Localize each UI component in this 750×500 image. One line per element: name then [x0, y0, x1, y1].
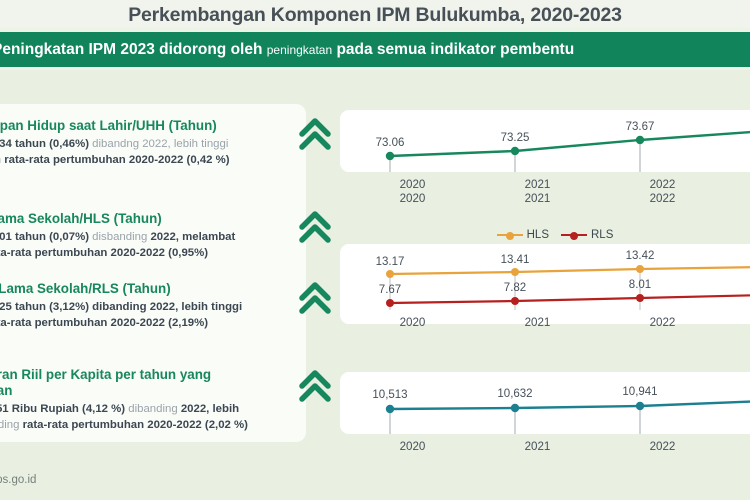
headline-banner-text: Peningkatan IPM 2023 didorong oleh penin…	[0, 41, 574, 59]
headline-emphasis: peningkatan	[267, 43, 332, 57]
data-point-rls-2020	[386, 299, 394, 307]
pengeluaran-compare: dibanding	[125, 403, 181, 415]
hls-compare-year: 2022, melambat	[150, 231, 235, 243]
page-title: Perkembangan Komponen IPM Bulukumba, 202…	[0, 0, 750, 30]
series-line-pengeluaran	[390, 401, 750, 409]
data-point-pengeluaran-2020	[386, 405, 394, 413]
indicator-block-pengeluaran: eluaran Riil per Kapita per tahun yang u…	[0, 367, 306, 433]
double-chevron-up-icon	[298, 366, 332, 406]
series-line-rls	[390, 295, 750, 303]
pengeluaran-line2-lead: dibanding	[0, 419, 23, 431]
double-chevron-up-icon	[298, 207, 332, 247]
value-label-hls-2020: 13.17	[376, 256, 405, 268]
pengeluaran-title-line1: eluaran Riil per Kapita per tahun yang	[0, 367, 306, 383]
x-tick-2020: 2020	[350, 316, 475, 329]
pengeluaran-compare-year: 2022, lebih	[181, 403, 239, 415]
data-point-pengeluaran-2022	[636, 402, 644, 410]
indicator-body-uhh: kat 0,34 tahun (0,46%) dibandng 2022, le…	[0, 137, 306, 168]
x-tick-dup-2021: 2021	[475, 192, 600, 205]
value-label-pengeluaran-2020: 10,513	[372, 389, 407, 401]
indicator-body-rls: kat 0,25 tahun (3,12%) dibanding 2022, l…	[0, 300, 306, 331]
data-point-hls-2022	[636, 265, 644, 273]
x-tick-2021: 2021	[475, 440, 600, 453]
double-chevron-up-icon	[298, 278, 332, 318]
hls-avg-growth: rata-rata pertumbuhan 2020-2022 (0,95%)	[0, 247, 208, 259]
value-label-uhh-2020: 73.06	[376, 137, 405, 149]
x-axis-pengeluaran: 2020 2021 2022	[340, 440, 750, 453]
rls-delta: kat 0,25 tahun (3,12%) dibanding 2022, l…	[0, 301, 242, 313]
uhh-delta: kat 0,34 tahun (0,46%)	[0, 138, 89, 150]
uhh-avg-growth: rata-rata pertumbuhan 2020-2022 (0,42 %)	[4, 154, 229, 166]
data-point-hls-2021	[511, 268, 519, 276]
x-axis-uhh-duplicate: 2020 2021 2022	[340, 192, 750, 205]
pengeluaran-title-line2: uaikan	[0, 383, 306, 399]
hls-compare: disbanding	[89, 231, 150, 243]
data-point-rls-2021	[511, 297, 519, 305]
double-chevron-up-icon	[298, 114, 332, 154]
data-point-pengeluaran-2021	[511, 404, 519, 412]
x-tick-dup-2020: 2020	[350, 192, 475, 205]
uhh-compare: dibandng 2022, lebih tinggi	[89, 138, 228, 150]
indicator-block-hls: an Lama Sekolah/HLS (Tahun) kat 0,01 tah…	[0, 211, 306, 261]
indicator-title-pengeluaran: eluaran Riil per Kapita per tahun yang u…	[0, 367, 306, 399]
headline-part1: Peningkatan IPM 2023 didorong oleh	[0, 41, 267, 58]
chart-hls-rls: 13.17 13.41 13.42 7.67 7.82 8.01 2020 20…	[340, 228, 750, 338]
value-label-uhh-2022: 73.67	[626, 121, 655, 133]
chart-pengeluaran: 10,513 10,632 10,941 2020 2021 2022	[340, 372, 750, 467]
value-label-hls-2021: 13.41	[501, 254, 530, 266]
data-point-uhh-2022	[636, 136, 644, 144]
data-point-uhh-2021	[511, 147, 519, 155]
hls-delta: kat 0,01 tahun (0,07%)	[0, 231, 89, 243]
value-label-pengeluaran-2022: 10,941	[622, 386, 657, 398]
value-label-rls-2021: 7.82	[504, 282, 526, 294]
rls-avg-growth: rata-rata pertumbuhan 2020-2022 (2,19%)	[0, 317, 208, 329]
indicator-block-rls: rata Lama Sekolah/RLS (Tahun) kat 0,25 t…	[0, 281, 306, 331]
x-tick-2022: 2022	[600, 178, 725, 191]
pengeluaran-delta: kat 451 Ribu Rupiah (4,12 %)	[0, 403, 125, 415]
chart-uhh: 73.06 73.25 73.67 2020 2021 2022 2020 20…	[340, 110, 750, 215]
x-axis-uhh: 2020 2021 2022	[340, 178, 750, 191]
value-label-rls-2020: 7.67	[379, 284, 401, 296]
value-label-pengeluaran-2021: 10,632	[497, 388, 532, 400]
headline-part2: pada semua indikator pembentu	[332, 41, 574, 58]
indicator-block-uhh: Harapan Hidup saat Lahir/UHH (Tahun) kat…	[0, 118, 306, 168]
series-line-hls	[390, 267, 750, 274]
x-tick-2020: 2020	[350, 440, 475, 453]
data-point-uhh-2020	[386, 152, 394, 160]
pengeluaran-avg-growth: rata-rata pertumbuhan 2020-2022 (2,02 %)	[23, 419, 248, 431]
data-point-rls-2022	[636, 294, 644, 302]
indicator-title-rls: rata Lama Sekolah/RLS (Tahun)	[0, 281, 306, 297]
x-axis-hls-rls: 2020 2021 2022	[340, 316, 750, 329]
headline-banner: Peningkatan IPM 2023 didorong oleh penin…	[0, 32, 750, 67]
value-label-uhh-2021: 73.25	[501, 132, 530, 144]
indicator-title-hls: an Lama Sekolah/HLS (Tahun)	[0, 211, 306, 227]
indicator-body-hls: kat 0,01 tahun (0,07%) disbanding 2022, …	[0, 230, 306, 261]
data-point-hls-2020	[386, 270, 394, 278]
footer-url: kab.bps.go.id	[0, 474, 36, 486]
indicator-body-pengeluaran: kat 451 Ribu Rupiah (4,12 %) dibanding 2…	[0, 402, 306, 433]
series-line-uhh	[390, 131, 750, 156]
x-tick-2021: 2021	[475, 316, 600, 329]
value-label-rls-2022: 8.01	[629, 279, 651, 291]
indicator-title-uhh: Harapan Hidup saat Lahir/UHH (Tahun)	[0, 118, 306, 134]
value-label-hls-2022: 13.42	[626, 250, 655, 262]
x-tick-2021: 2021	[475, 178, 600, 191]
x-tick-dup-2022: 2022	[600, 192, 725, 205]
x-tick-2022: 2022	[600, 440, 725, 453]
x-tick-2022: 2022	[600, 316, 725, 329]
x-tick-2020: 2020	[350, 178, 475, 191]
